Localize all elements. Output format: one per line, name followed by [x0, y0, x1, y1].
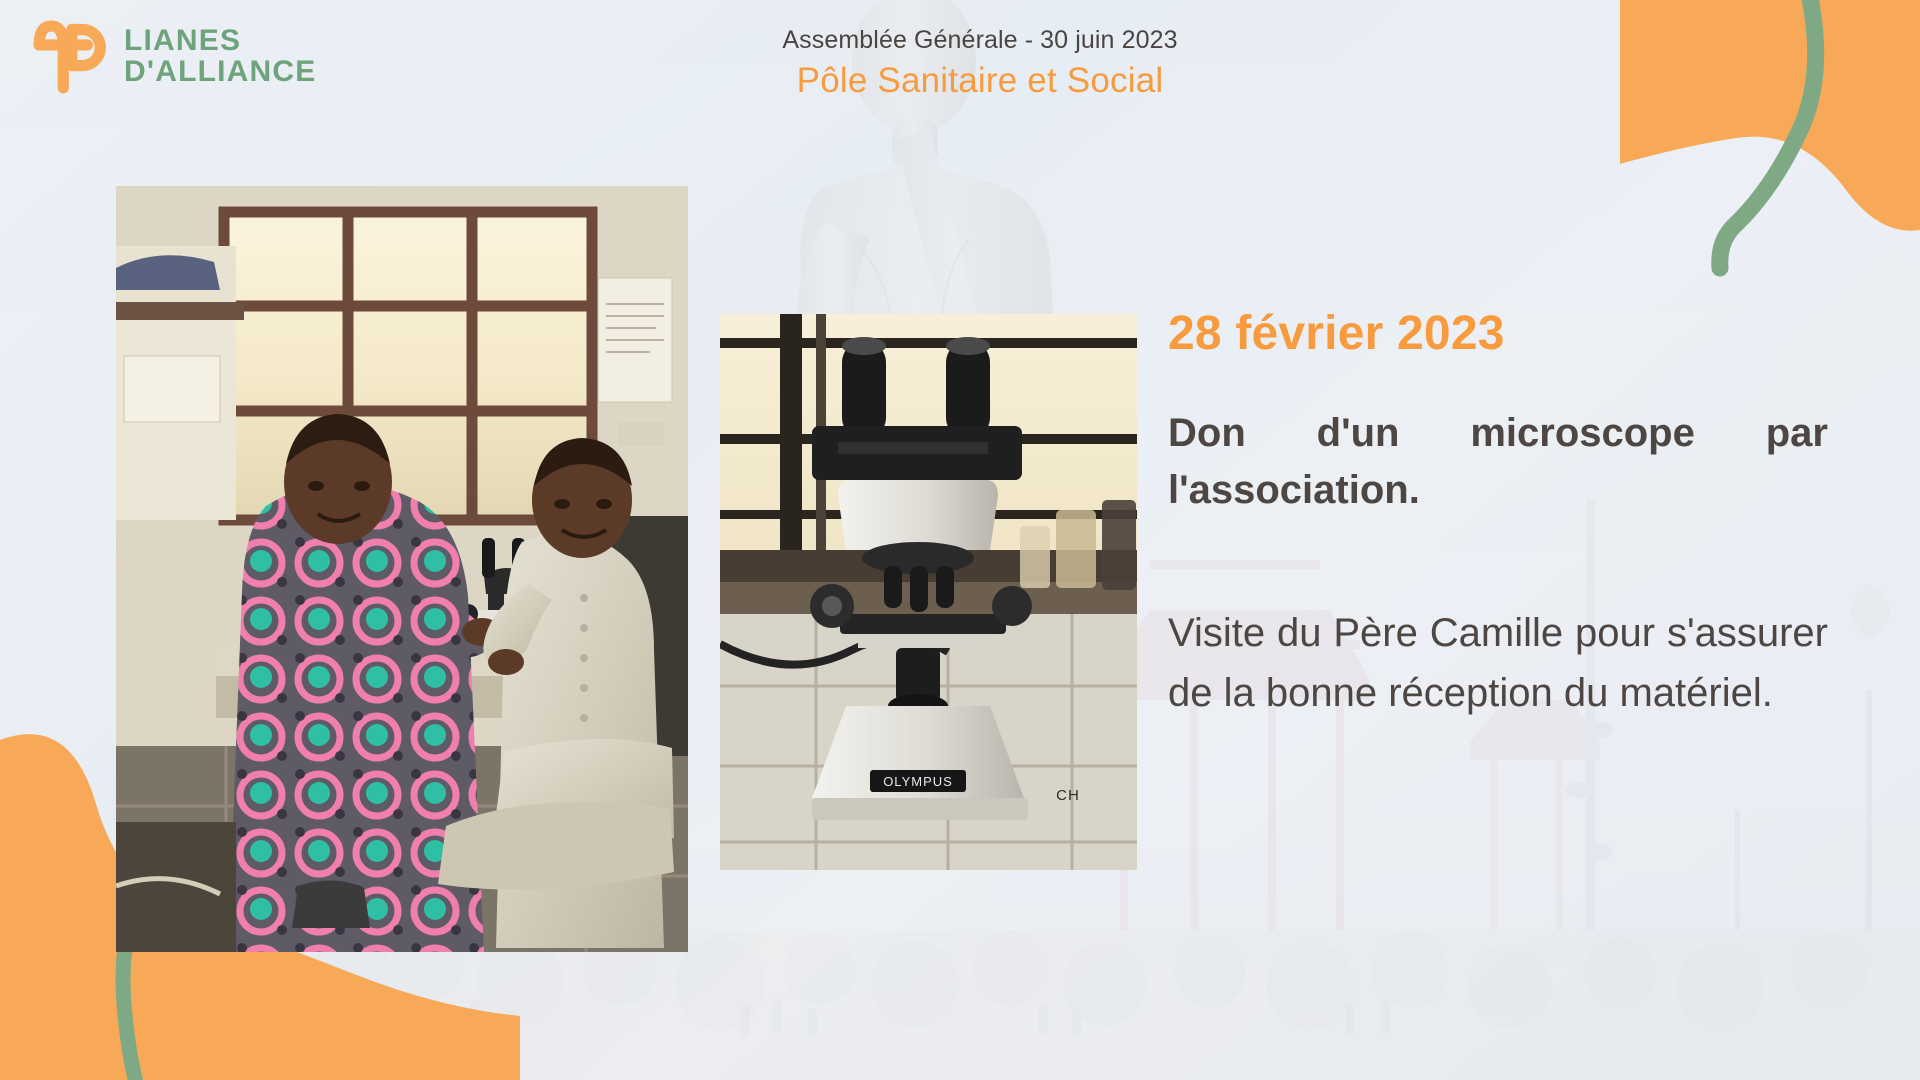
- presentation-slide: LIANES D'ALLIANCE Assemblée Générale - 3…: [0, 0, 1920, 1080]
- photo-men-with-microscope: [116, 186, 688, 952]
- lianes-alliance-monogram-icon: [22, 14, 108, 100]
- brand-name-line2: D'ALLIANCE: [124, 57, 316, 88]
- brand-name-line1: LIANES: [124, 26, 316, 57]
- assembly-title: Assemblée Générale - 30 juin 2023: [500, 26, 1460, 55]
- decoration-top-right: [1620, 0, 1920, 300]
- pole-title: Pôle Sanitaire et Social: [500, 61, 1460, 101]
- brand-name: LIANES D'ALLIANCE: [124, 26, 316, 88]
- brand-logo: LIANES D'ALLIANCE: [22, 14, 316, 100]
- svg-text:OLYMPUS: OLYMPUS: [883, 774, 953, 789]
- event-headline: Don d'un microscope par l'association.: [1168, 405, 1828, 519]
- slide-text-column: 28 février 2023 Don d'un microscope par …: [1168, 306, 1828, 724]
- event-body: Visite du Père Camille pour s'assurer de…: [1168, 603, 1828, 725]
- photo-microscope: OLYMPUS CH: [720, 314, 1137, 870]
- svg-text:CH: CH: [1056, 787, 1080, 804]
- slide-header: Assemblée Générale - 30 juin 2023 Pôle S…: [500, 26, 1460, 101]
- event-date: 28 février 2023: [1168, 306, 1828, 361]
